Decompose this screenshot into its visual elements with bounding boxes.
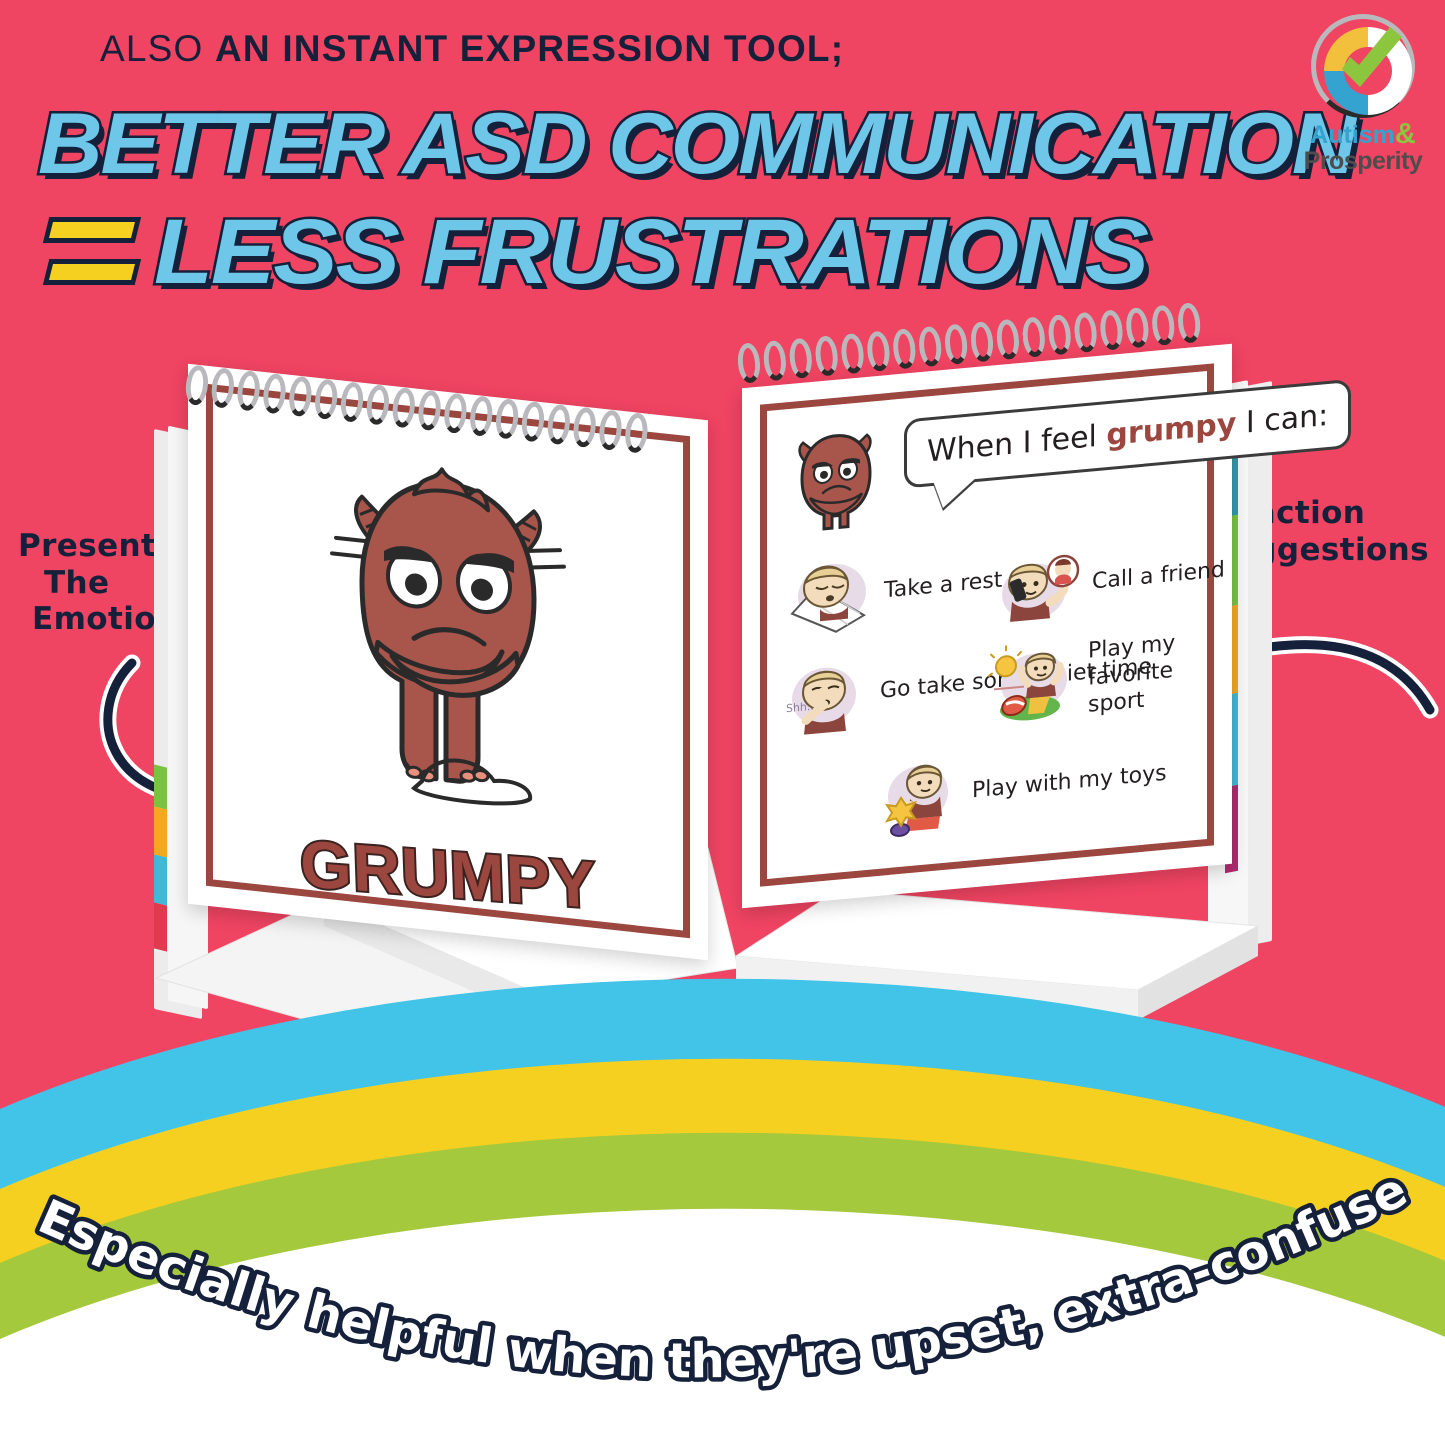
circle-checkmark-logo-icon <box>1311 14 1415 118</box>
svg-text:Shh..: Shh.. <box>786 700 814 716</box>
bubble-prefix: When I feel <box>927 418 1106 469</box>
suggestion-label: Call a friend <box>1092 557 1225 596</box>
grumpy-monster-small-icon <box>790 424 882 542</box>
flipchart-right-front-page[interactable]: When I feel grumpy I can: <box>742 344 1232 909</box>
headline-line-2: LESS FRUSTRATIONS <box>154 200 1147 305</box>
headline-line-2-row: LESS FRUSTRATIONS <box>46 200 1100 305</box>
brand-logo-text: Autism& Prosperity <box>1299 120 1427 174</box>
brand-logo: Autism& Prosperity <box>1299 14 1427 174</box>
poster-canvas: ALSO AN INSTANT EXPRESSION TOOL; BETTER … <box>0 0 1445 1443</box>
suggestion-label: Play my favorite sport <box>1088 626 1232 720</box>
logo-word-prosperity: Prosperity <box>1299 149 1427 174</box>
banner-text-path: Especially helpful when they're upset, e… <box>0 1031 1416 1389</box>
child-with-toy-icon <box>874 752 960 840</box>
equals-icon <box>46 211 140 295</box>
flipchart-left[interactable]: GRUMPY <box>148 368 738 1048</box>
kicker-bold: AN INSTANT EXPRESSION TOOL; <box>215 28 844 69</box>
svg-text:Especially helpful when they'r: Especially helpful when they're upset, e… <box>0 1031 1416 1389</box>
grumpy-monster-illustration <box>318 440 578 828</box>
child-phone-call-icon <box>994 544 1080 632</box>
suggestion-label: Play with my toys <box>972 760 1167 805</box>
child-resting-icon <box>786 552 872 640</box>
child-playing-ball-icon <box>990 640 1076 728</box>
kicker-plain: ALSO <box>100 28 215 69</box>
banner-text-curved: Especially helpful when they're upset, e… <box>0 1075 1445 1443</box>
kicker-text: ALSO AN INSTANT EXPRESSION TOOL; <box>100 28 844 70</box>
bubble-suffix: I can: <box>1236 398 1328 441</box>
headline-line-1: BETTER ASD COMMUNICATION <box>38 95 1354 194</box>
suggestion-label: Take a rest <box>884 567 1002 605</box>
child-shushing-icon: Shh.. <box>782 653 868 741</box>
flipchart-left-front-page[interactable]: GRUMPY <box>188 364 708 960</box>
bubble-highlight-word: grumpy <box>1106 406 1236 453</box>
flipchart-right[interactable]: When I feel grumpy I can: <box>728 338 1288 1028</box>
bubble-tail <box>933 477 977 509</box>
logo-word-autism: Autism <box>1310 121 1395 149</box>
